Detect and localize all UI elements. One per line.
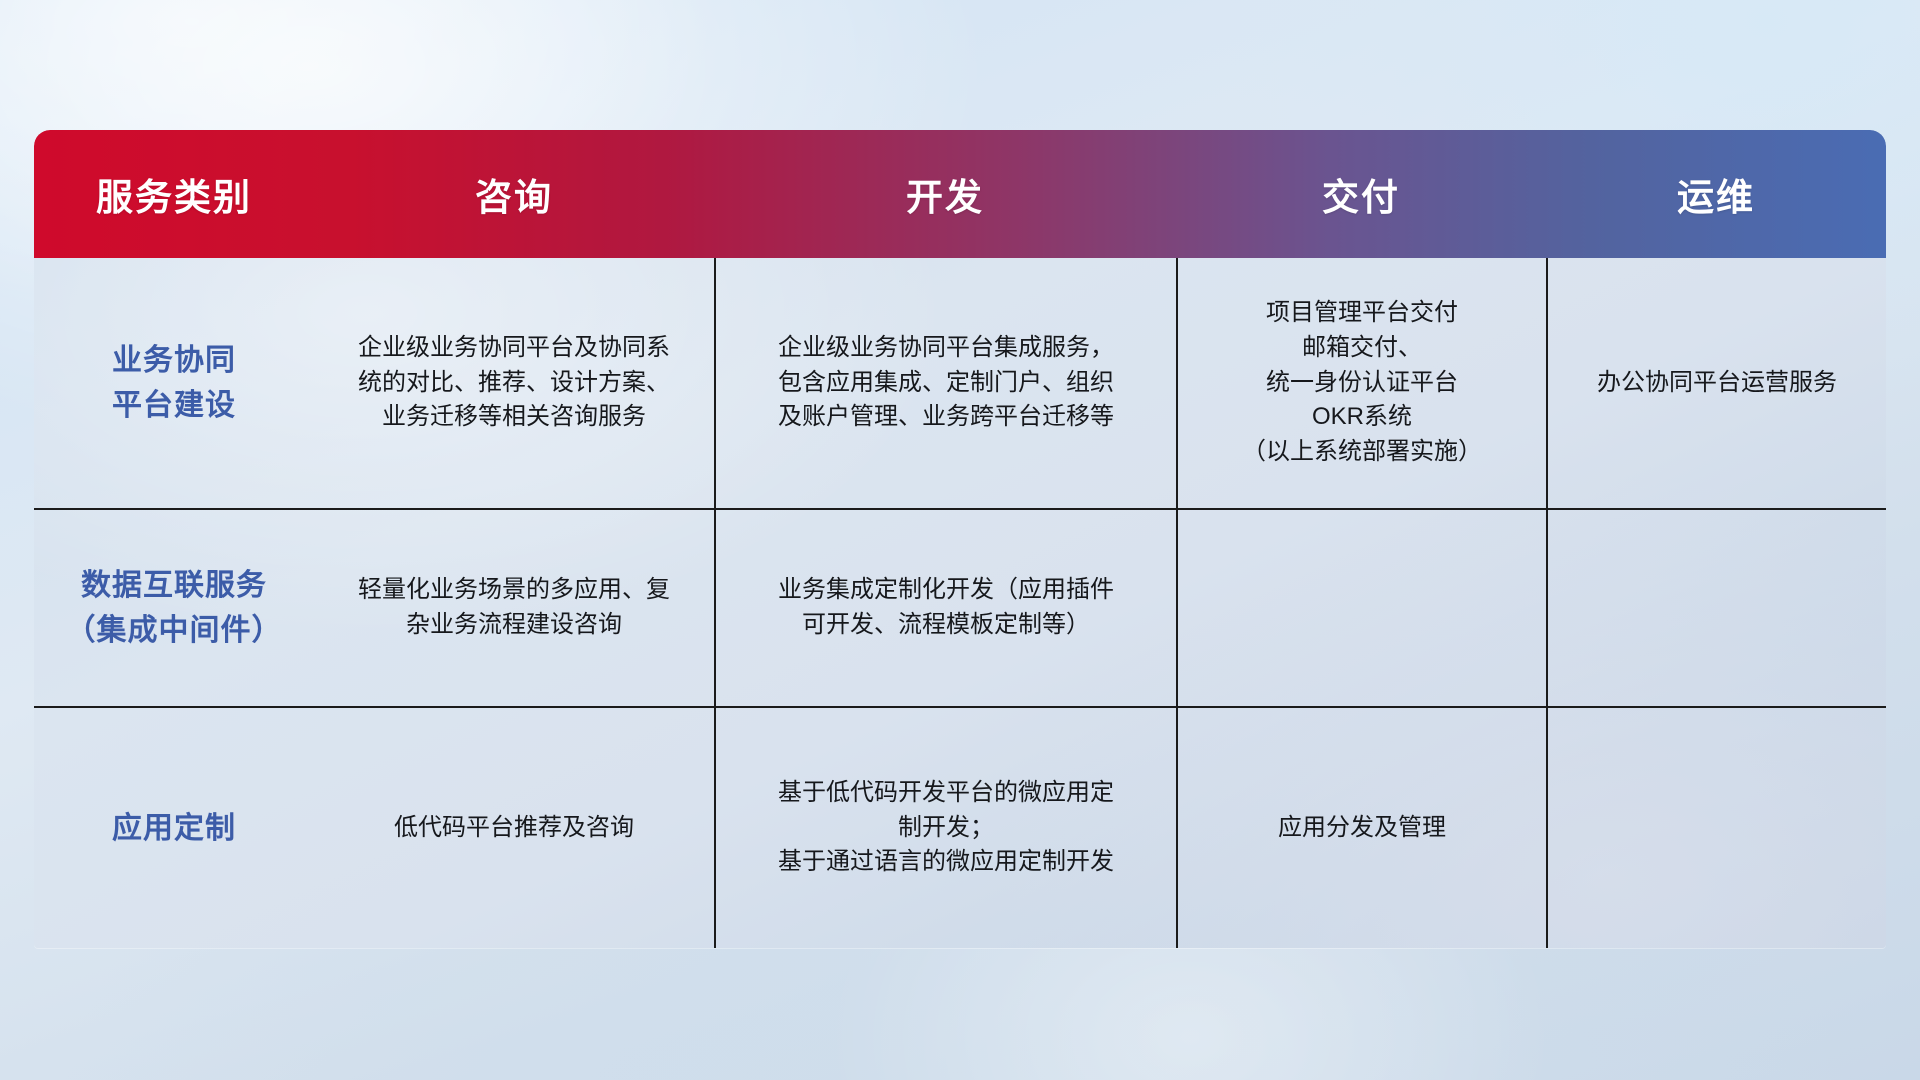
column-header-delivery: 交付 bbox=[1176, 130, 1546, 258]
service-category-table: 服务类别 咨询 开发 交付 运维 业务协同 平台建设 企业级业务协同平台及协同系… bbox=[34, 130, 1886, 948]
row-label-app-customization: 应用定制 bbox=[34, 708, 314, 948]
table-header-row: 服务类别 咨询 开发 交付 运维 bbox=[34, 130, 1886, 258]
column-header-category: 服务类别 bbox=[34, 130, 314, 258]
table-row: 业务协同 平台建设 企业级业务协同平台及协同系 统的对比、推荐、设计方案、 业务… bbox=[34, 258, 1886, 508]
cell-delivery-row3: 应用分发及管理 bbox=[1176, 708, 1546, 948]
cell-delivery-row1: 项目管理平台交付 邮箱交付、 统一身份认证平台 OKR系统 （以上系统部署实施） bbox=[1176, 258, 1546, 508]
cell-operations-row2 bbox=[1546, 510, 1886, 706]
cell-consulting-row1: 企业级业务协同平台及协同系 统的对比、推荐、设计方案、 业务迁移等相关咨询服务 bbox=[314, 258, 714, 508]
cell-delivery-row2 bbox=[1176, 510, 1546, 706]
table-row: 数据互联服务 （集成中间件） 轻量化业务场景的多应用、复 杂业务流程建设咨询 业… bbox=[34, 508, 1886, 706]
table-body: 业务协同 平台建设 企业级业务协同平台及协同系 统的对比、推荐、设计方案、 业务… bbox=[34, 258, 1886, 948]
row-label-data-interconnect: 数据互联服务 （集成中间件） bbox=[34, 510, 314, 706]
cell-development-row1: 企业级业务协同平台集成服务， 包含应用集成、定制门户、组织 及账户管理、业务跨平… bbox=[714, 258, 1176, 508]
cell-development-row3: 基于低代码开发平台的微应用定 制开发； 基于通过语言的微应用定制开发 bbox=[714, 708, 1176, 948]
table-row: 应用定制 低代码平台推荐及咨询 基于低代码开发平台的微应用定 制开发； 基于通过… bbox=[34, 706, 1886, 948]
row-label-business-collaboration: 业务协同 平台建设 bbox=[34, 258, 314, 508]
cell-development-row2: 业务集成定制化开发（应用插件 可开发、流程模板定制等） bbox=[714, 510, 1176, 706]
column-header-consulting: 咨询 bbox=[314, 130, 714, 258]
column-header-operations: 运维 bbox=[1546, 130, 1886, 258]
cell-operations-row3 bbox=[1546, 708, 1886, 948]
cell-consulting-row2: 轻量化业务场景的多应用、复 杂业务流程建设咨询 bbox=[314, 510, 714, 706]
slide-canvas: 服务类别 咨询 开发 交付 运维 业务协同 平台建设 企业级业务协同平台及协同系… bbox=[0, 0, 1920, 1080]
cell-operations-row1: 办公协同平台运营服务 bbox=[1546, 258, 1886, 508]
cell-consulting-row3: 低代码平台推荐及咨询 bbox=[314, 708, 714, 948]
column-header-development: 开发 bbox=[714, 130, 1176, 258]
